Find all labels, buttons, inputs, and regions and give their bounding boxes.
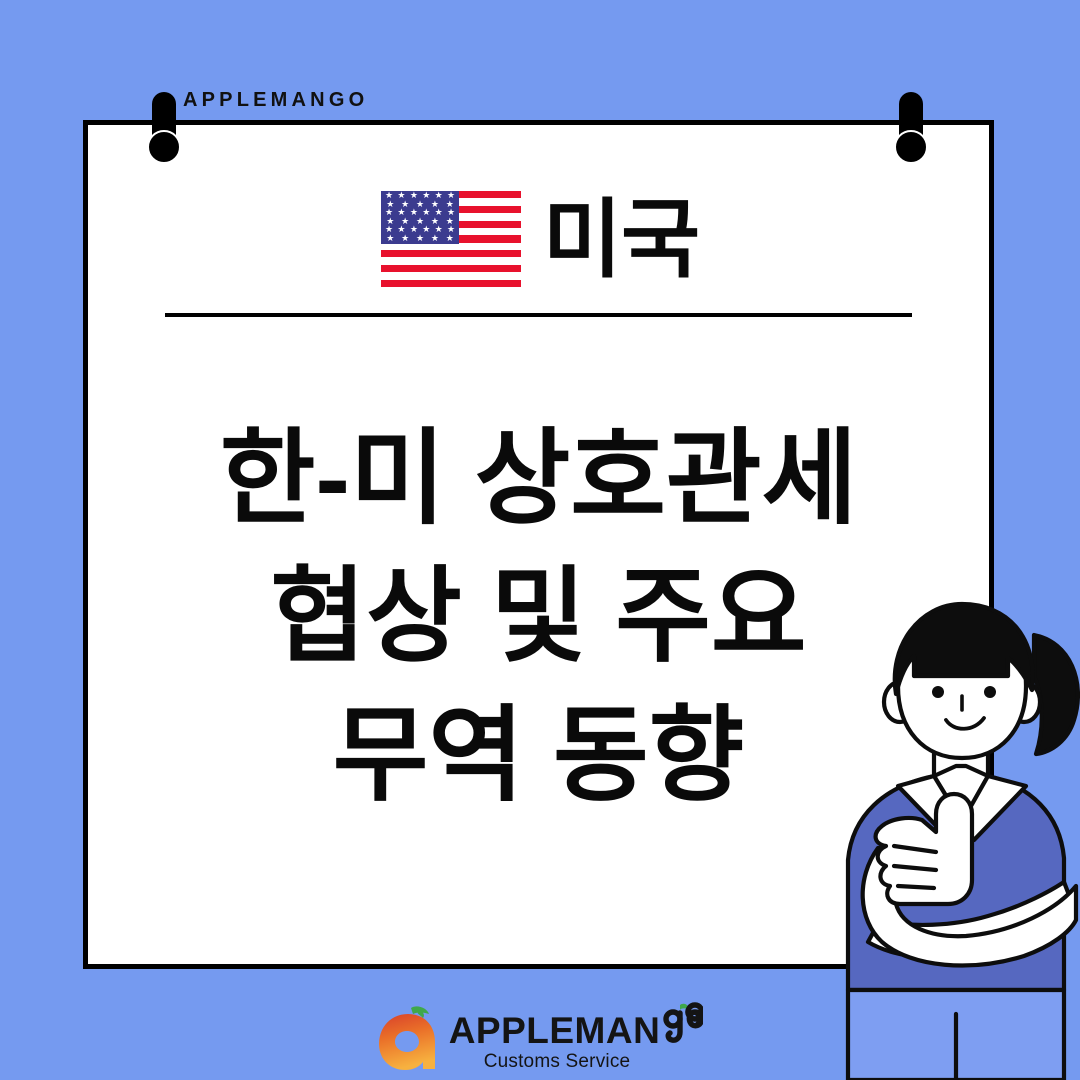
- pin-head: [147, 130, 181, 164]
- flag-canton: ★★★★★★ ★★★★★ ★★★★★★ ★★★★★ ★★★★★★ ★★★★★: [381, 191, 459, 244]
- eye-right: [984, 686, 996, 698]
- headline-line-1: 한-미 상호관세: [83, 410, 994, 548]
- applemango-a-mark-icon: [377, 1000, 439, 1070]
- pin-head: [894, 130, 928, 164]
- us-flag-icon: ★★★★★★ ★★★★★ ★★★★★★ ★★★★★ ★★★★★★ ★★★★★: [381, 191, 521, 289]
- poster-canvas: APPLEMANGO ★★★★★★ ★★★★★ ★★★★★★ ★★★★★ ★★★…: [0, 0, 1080, 1080]
- pointing-woman-illustration: [838, 590, 1080, 1080]
- eye-left: [932, 686, 944, 698]
- brand-caption: APPLEMANGO: [183, 90, 368, 110]
- logo-wordmark-main: APPLEMAN: [449, 1012, 661, 1049]
- logo-tagline: Customs Service: [484, 1052, 631, 1071]
- logo-text-group: APPLEMAN Customs Service: [449, 999, 704, 1071]
- header-divider: [165, 313, 912, 317]
- logo-wordmark: APPLEMAN: [449, 999, 704, 1049]
- country-label: 미국: [543, 197, 699, 283]
- logo-go-icon: [659, 999, 703, 1043]
- country-header: ★★★★★★ ★★★★★ ★★★★★★ ★★★★★ ★★★★★★ ★★★★★ 미…: [0, 191, 1080, 289]
